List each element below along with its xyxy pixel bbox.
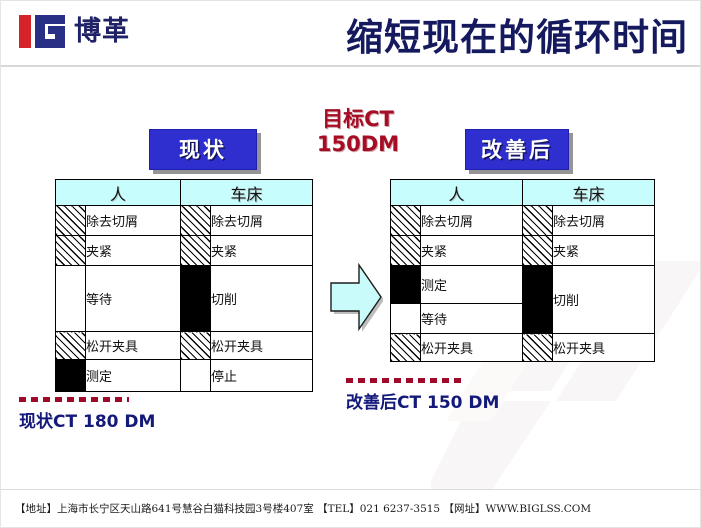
bar-machine-4 [181,332,211,360]
column-header-operator: 人 [56,180,181,206]
chart-current-state: 人 车床 除去切屑 除去切屑 夹紧 夹紧 等待 [55,179,313,392]
label-operator-4: 等待 [421,304,523,334]
badge-current-state: 现状 [149,129,257,170]
label-operator-5: 测定 [86,360,181,392]
company-logo: 博革 [19,15,130,48]
label-operator-2: 夹紧 [86,236,181,266]
logo-wordmark: 博革 [74,18,130,45]
bar-operator-5 [56,360,86,392]
table-header-row: 人 车床 [56,180,313,206]
chart-after-state: 人 车床 除去切屑 除去切屑 夹紧 夹紧 测定 [390,179,655,362]
bar-operator-4 [391,304,421,334]
slide-canvas: 博革 缩短现在的循环时间 现状 目标CT 150DM 改善后 人 车床 除去切屑 [0,0,701,528]
label-operator-1: 除去切屑 [86,206,181,236]
label-machine-4: 松开夹具 [211,332,313,360]
column-header-machine: 车床 [523,180,655,206]
result-current-ct: 现状CT 180 DM [19,397,155,432]
table-row: 除去切屑 除去切屑 [391,206,655,236]
current-ct-text: 现状CT 180 DM [19,407,155,432]
table-row: 除去切屑 除去切屑 [56,206,313,236]
bar-operator-3 [56,266,86,332]
column-header-machine: 车床 [181,180,313,206]
target-ct-line2: 150DM [302,132,414,157]
biglss-logo-icon [19,15,67,48]
table-row: 等待 切削 [56,266,313,332]
page-title: 缩短现在的循环时间 [346,7,688,61]
target-ct-callout: 目标CT 150DM [302,107,414,157]
table-row: 测定 切削 [391,266,655,304]
bar-machine-3 [523,266,553,334]
label-operator-2: 夹紧 [421,236,523,266]
label-operator-1: 除去切屑 [421,206,523,236]
label-machine-3: 切削 [553,266,655,334]
after-state-table: 人 车床 除去切屑 除去切屑 夹紧 夹紧 测定 [390,179,655,362]
bar-operator-2 [391,236,421,266]
target-ct-line1: 目标CT [302,107,414,132]
bar-operator-5 [391,334,421,362]
label-machine-4: 松开夹具 [553,334,655,362]
right-arrow-icon [327,259,383,335]
badge-after-state: 改善后 [465,129,569,170]
table-row: 夹紧 夹紧 [391,236,655,266]
table-row: 测定 停止 [56,360,313,392]
label-machine-3: 切削 [211,266,313,332]
after-ct-text: 改善后CT 150 DM [346,388,499,413]
label-machine-2: 夹紧 [553,236,655,266]
slide-footer: 【地址】上海市长宁区天山路641号慧谷白猫科技园3号楼407室 【TEL】021… [1,489,701,527]
label-operator-3: 等待 [86,266,181,332]
table-row: 松开夹具 松开夹具 [391,334,655,362]
result-after-ct: 改善后CT 150 DM [346,378,499,413]
label-machine-5: 停止 [211,360,313,392]
label-operator-4: 松开夹具 [86,332,181,360]
bar-operator-1 [391,206,421,236]
bar-machine-2 [181,236,211,266]
bar-machine-3 [181,266,211,332]
slide-header: 博革 缩短现在的循环时间 [1,1,701,67]
bar-operator-1 [56,206,86,236]
table-row: 松开夹具 松开夹具 [56,332,313,360]
label-machine-1: 除去切屑 [211,206,313,236]
bar-machine-1 [523,206,553,236]
bar-operator-4 [56,332,86,360]
table-row: 夹紧 夹紧 [56,236,313,266]
label-machine-2: 夹紧 [211,236,313,266]
dashed-leader-line [346,378,466,383]
table-header-row: 人 车床 [391,180,655,206]
bar-operator-3 [391,266,421,304]
label-operator-3: 测定 [421,266,523,304]
column-header-operator: 人 [391,180,523,206]
label-machine-1: 除去切屑 [553,206,655,236]
bar-operator-2 [56,236,86,266]
bar-machine-1 [181,206,211,236]
bar-machine-4 [523,334,553,362]
label-operator-5: 松开夹具 [421,334,523,362]
current-state-table: 人 车床 除去切屑 除去切屑 夹紧 夹紧 等待 [55,179,313,392]
footer-contact-text: 【地址】上海市长宁区天山路641号慧谷白猫科技园3号楼407室 【TEL】021… [15,501,591,516]
bar-machine-5 [181,360,211,392]
dashed-leader-line [19,397,129,402]
bar-machine-2 [523,236,553,266]
